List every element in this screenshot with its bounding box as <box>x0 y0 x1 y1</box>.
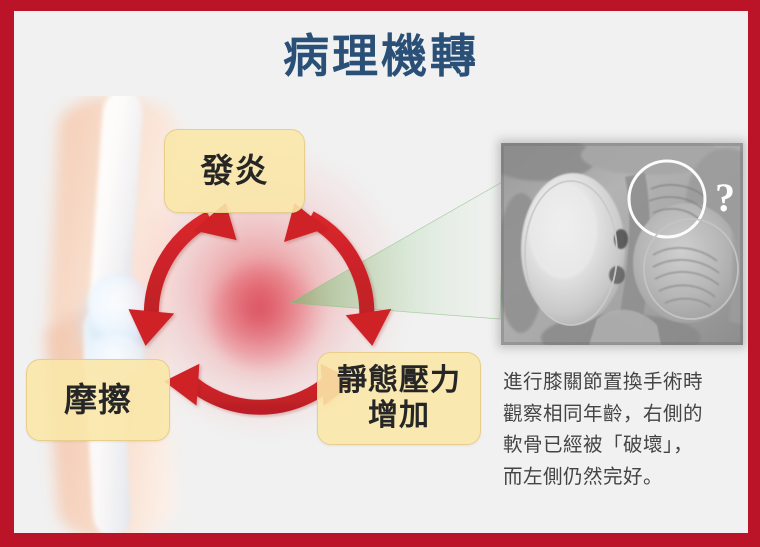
node-label-friction[interactable]: 摩擦 <box>26 359 170 441</box>
node-label-inflammation-text: 發炎 <box>201 152 269 190</box>
caption-line-4: 而左側仍然完好。 <box>503 461 748 493</box>
arrow-pressure-friction <box>184 376 336 407</box>
caption-line-2: 觀察相同年齡，右側的 <box>503 398 748 430</box>
node-label-inflammation[interactable]: 發炎 <box>164 129 305 213</box>
knee-cartilage-surgery-photo: ? <box>501 143 743 345</box>
caption-line-3: 軟骨已經被「破壞」， <box>503 429 748 461</box>
node-label-pressure[interactable]: 靜態壓力 增加 <box>317 352 481 445</box>
arrow-inflammation-pressure <box>310 218 367 326</box>
question-mark-glyph: ? <box>715 175 735 220</box>
arrow-friction-inflammation <box>151 218 210 326</box>
caption-line-1: 進行膝關節置換手術時 <box>503 366 748 398</box>
photo-caption: 進行膝關節置換手術時 觀察相同年齡，右側的 軟骨已經被「破壞」， 而左側仍然完好… <box>503 366 748 492</box>
page-title: 病理機轉 <box>14 31 748 82</box>
slide-frame: 病理機轉 <box>0 0 760 547</box>
node-label-pressure-line1: 靜態壓力 <box>337 364 461 399</box>
node-label-friction-text: 摩擦 <box>64 381 132 419</box>
slide-content-area: 病理機轉 <box>14 11 748 533</box>
node-label-pressure-line2: 增加 <box>368 399 430 434</box>
